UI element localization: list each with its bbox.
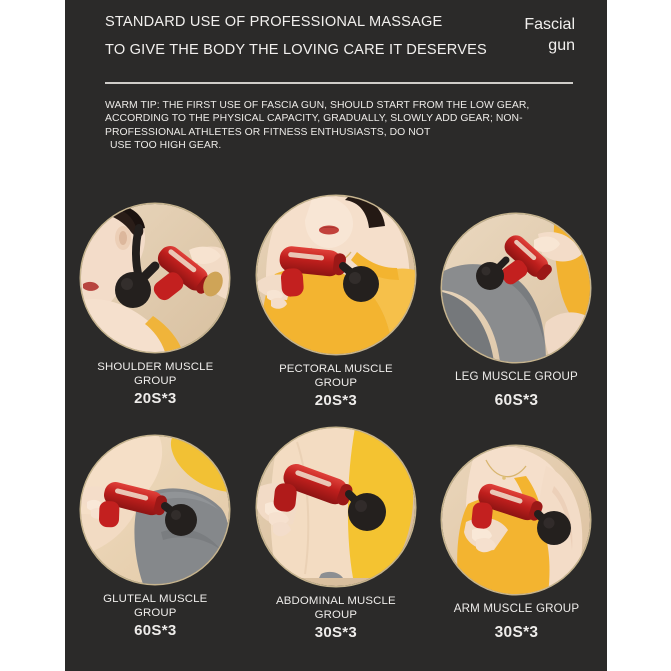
title-line-2: TO GIVE THE BODY THE LOVING CARE IT DESE…: [105, 36, 451, 64]
card-gluteal[interactable]: GLUTEAL MUSCLE GROUP 60S*3: [65, 428, 246, 660]
dark-panel: STANDARD USE OF PROFESSIONAL MASSAGE TO …: [65, 0, 607, 671]
card-abdominal[interactable]: ABDOMINAL MUSCLE GROUP 30S*3: [246, 428, 427, 660]
label-abdominal-line-2: GROUP: [251, 608, 421, 622]
photo-pectoral-muscle: [257, 196, 415, 354]
label-leg-line-1: LEG MUSCLE GROUP: [431, 370, 601, 384]
header-divider: [105, 82, 573, 84]
label-pectoral-line-1: PECTORAL MUSCLE: [251, 362, 421, 376]
header: STANDARD USE OF PROFESSIONAL MASSAGE TO …: [65, 0, 607, 92]
caption-leg: LEG MUSCLE GROUP 60S*3: [431, 370, 601, 410]
photo-arm-muscle: [442, 446, 590, 594]
caption-pectoral: PECTORAL MUSCLE GROUP 20S*3: [251, 362, 421, 410]
caption-gluteal: GLUTEAL MUSCLE GROUP 60S*3: [70, 592, 240, 640]
warm-tip-line-3: PROFESSIONAL ATHLETES OR FITNESS ENTHUSI…: [105, 126, 575, 139]
caption-arm: ARM MUSCLE GROUP 30S*3: [431, 602, 601, 642]
warm-tip-line-4: USE TOO HIGH GEAR.: [105, 139, 575, 152]
caption-shoulder: SHOULDER MUSCLE GROUP 20S*3: [70, 360, 240, 408]
brand-label: Fascial gun: [465, 14, 583, 56]
label-shoulder-line-2: GROUP: [70, 374, 240, 388]
label-pectoral-line-2: GROUP: [251, 376, 421, 390]
grid-row-bottom: GLUTEAL MUSCLE GROUP 60S*3: [65, 428, 607, 660]
warm-tip-text: WARM TIP: THE FIRST USE OF FASCIA GUN, S…: [105, 99, 575, 153]
brand-line-2: gun: [465, 35, 575, 56]
photo-abdominal-muscle: [257, 428, 415, 586]
photo-leg-muscle: [442, 214, 590, 362]
card-shoulder[interactable]: SHOULDER MUSCLE GROUP 20S*3: [65, 196, 246, 428]
warm-tip-line-1: WARM TIP: THE FIRST USE OF FASCIA GUN, S…: [105, 99, 575, 112]
duration-abdominal: 30S*3: [251, 623, 421, 642]
label-gluteal-line-2: GROUP: [70, 606, 240, 620]
label-abdominal-line-1: ABDOMINAL MUSCLE: [251, 594, 421, 608]
warm-tip-line-2: ACCORDING TO THE PHYSICAL CAPACITY, GRAD…: [105, 112, 575, 125]
label-arm-line-1: ARM MUSCLE GROUP: [431, 602, 601, 616]
card-arm[interactable]: ARM MUSCLE GROUP 30S*3: [426, 428, 607, 660]
page-title: STANDARD USE OF PROFESSIONAL MASSAGE TO …: [105, 8, 465, 64]
duration-leg: 60S*3: [431, 391, 601, 410]
product-infographic-page: STANDARD USE OF PROFESSIONAL MASSAGE TO …: [0, 0, 671, 671]
duration-pectoral: 20S*3: [251, 391, 421, 410]
label-gluteal-line-1: GLUTEAL MUSCLE: [70, 592, 240, 606]
muscle-group-grid: SHOULDER MUSCLE GROUP 20S*3: [65, 196, 607, 660]
photo-shoulder-muscle: [81, 204, 229, 352]
photo-gluteal-muscle: [81, 436, 229, 584]
card-pectoral[interactable]: PECTORAL MUSCLE GROUP 20S*3: [246, 196, 427, 428]
duration-shoulder: 20S*3: [70, 389, 240, 408]
title-line-1: STANDARD USE OF PROFESSIONAL MASSAGE: [105, 8, 451, 36]
caption-abdominal: ABDOMINAL MUSCLE GROUP 30S*3: [251, 594, 421, 642]
duration-arm: 30S*3: [431, 623, 601, 642]
grid-row-top: SHOULDER MUSCLE GROUP 20S*3: [65, 196, 607, 428]
brand-line-1: Fascial: [465, 14, 575, 35]
duration-gluteal: 60S*3: [70, 621, 240, 640]
card-leg[interactable]: LEG MUSCLE GROUP 60S*3: [426, 196, 607, 428]
label-shoulder-line-1: SHOULDER MUSCLE: [70, 360, 240, 374]
